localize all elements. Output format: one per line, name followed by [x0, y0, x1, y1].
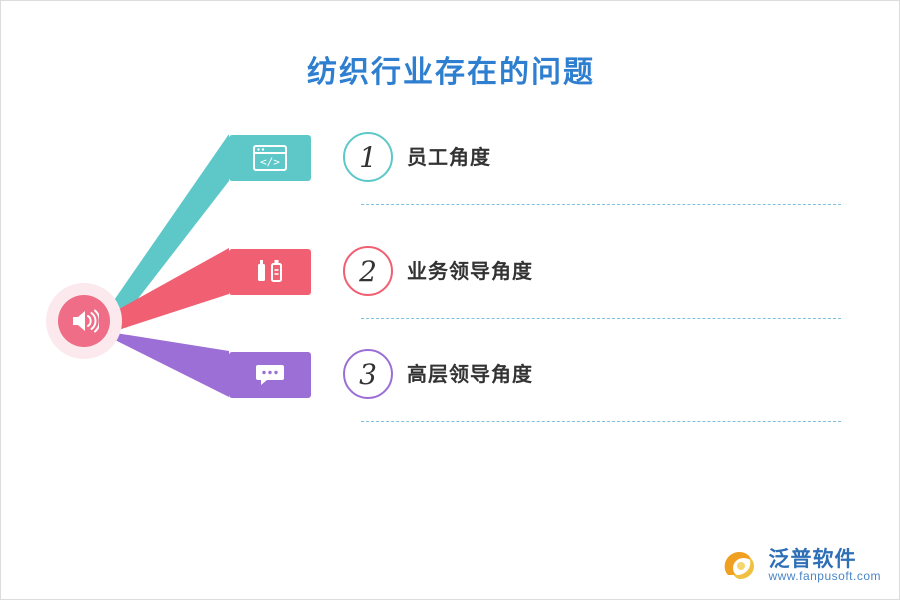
hub-node	[46, 283, 122, 359]
divider-3	[361, 421, 841, 422]
watermark-name: 泛普软件	[768, 547, 881, 570]
watermark-text: 泛普软件 www.fanpusoft.com	[768, 547, 881, 583]
code-window-icon: </>	[253, 145, 287, 171]
item-number-1: 1	[343, 132, 393, 182]
ribbon-3	[103, 331, 229, 397]
usb-devices-icon	[255, 259, 285, 285]
divider-2	[361, 318, 841, 319]
speaker-megaphone-icon	[69, 308, 99, 334]
item-icon-box-1: </>	[229, 135, 311, 181]
item-icon-box-3	[229, 352, 311, 398]
hub-inner-circle	[58, 295, 110, 347]
item-label-1: 员工角度	[407, 141, 491, 170]
watermark-url: www.fanpusoft.com	[768, 570, 881, 583]
fanpu-logo-icon	[720, 545, 762, 585]
divider-1	[361, 204, 841, 205]
connector-ribbons	[1, 1, 900, 601]
item-label-2: 业务领导角度	[407, 255, 533, 284]
item-label-3: 高层领导角度	[407, 358, 533, 387]
svg-text:</>: </>	[260, 156, 280, 169]
item-icon-box-2	[229, 249, 311, 295]
slide-canvas: 纺织行业存在的问题 </> 1 员工角度	[0, 0, 900, 600]
item-number-2: 2	[343, 246, 393, 296]
item-number-3: 3	[343, 349, 393, 399]
watermark-logo: 泛普软件 www.fanpusoft.com	[720, 545, 881, 585]
chat-bubble-icon	[254, 362, 286, 388]
